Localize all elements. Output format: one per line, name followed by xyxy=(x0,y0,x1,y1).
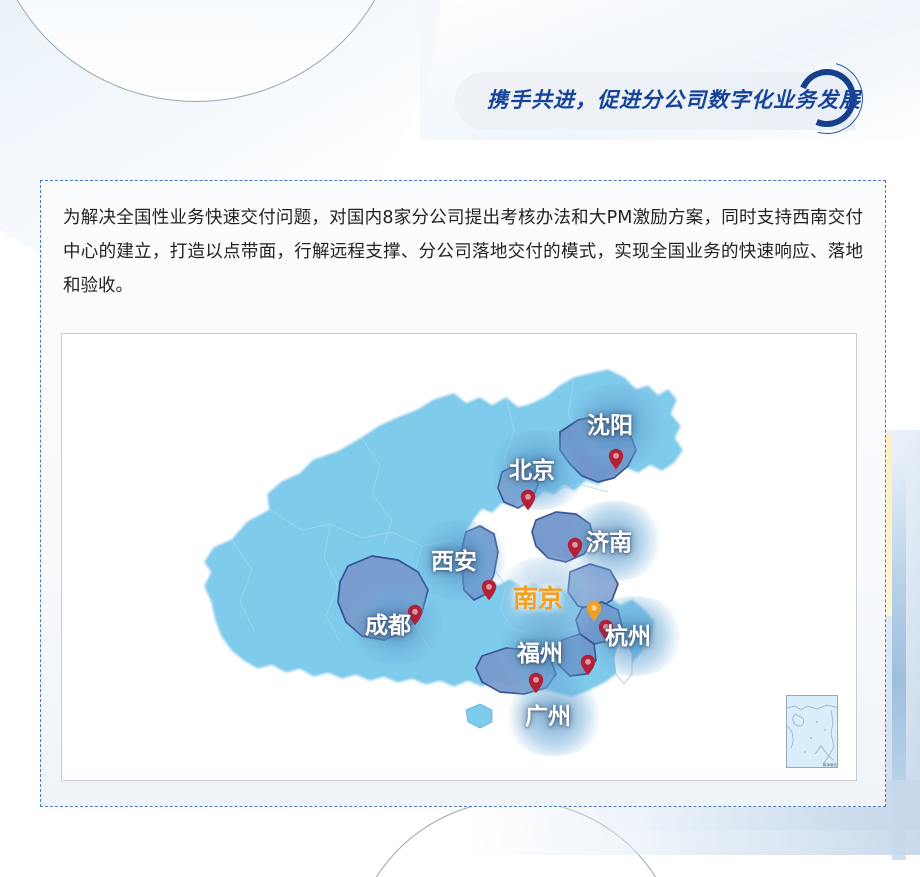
map-card[interactable]: 沈阳北京济南西安南京成都杭州福州广州 xyxy=(61,333,857,781)
content-frame: 为解决全国性业务快速交付问题，对国内8家分公司提出考核办法和大PM激励方案，同时… xyxy=(40,180,886,807)
slide-page: 携手共进，促进分公司数字化业务发展 为解决全国性业务快速交付问题，对国内8家分公… xyxy=(0,0,920,877)
china-map-svg xyxy=(62,334,857,781)
page-title: 携手共进，促进分公司数字化业务发展 xyxy=(487,72,861,130)
china-map[interactable]: 沈阳北京济南西安南京成都杭州福州广州 xyxy=(62,334,856,780)
body-paragraph: 为解决全国性业务快速交付问题，对国内8家分公司提出考核办法和大PM激励方案，同时… xyxy=(63,201,863,303)
decorative-circle-top-left xyxy=(0,0,402,102)
decorative-circle-bottom xyxy=(350,800,682,877)
inset-map-svg: 南海诸岛 xyxy=(787,696,838,768)
inset-label-text: 南海诸岛 xyxy=(823,762,838,767)
decorative-strip-blue xyxy=(892,460,906,860)
title-banner: 携手共进，促进分公司数字化业务发展 xyxy=(455,72,875,130)
south-china-sea-inset: 南海诸岛 xyxy=(786,695,838,768)
